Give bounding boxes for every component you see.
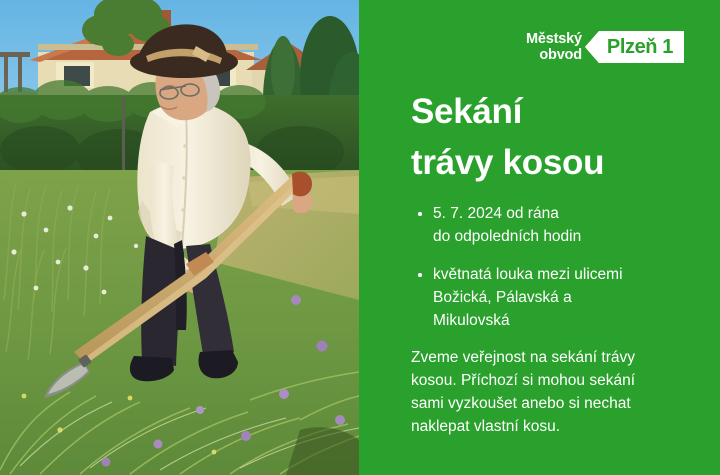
logo-word-line2: obvod	[539, 47, 582, 63]
description-paragraph: Zveme veřejnost na sekání trávy kosou. P…	[411, 346, 635, 438]
poster: Městský obvod Plzeň 1 Sekání trávy kosou…	[0, 0, 720, 475]
bullet-1-line3: Mikulovská	[433, 309, 623, 332]
paragraph-line3: sami vyzkoušet anebo si nechat	[411, 392, 635, 415]
paragraph-line1: Zveme veřejnost na sekání trávy	[411, 346, 635, 369]
photo-illustration	[0, 0, 359, 475]
logo-flag-shape: Plzeň 1	[585, 31, 684, 63]
paragraph-line2: kosou. Příchozí si mohou sekání	[411, 369, 635, 392]
page-title-line1: Sekání	[411, 86, 604, 137]
page-title: Sekání trávy kosou	[411, 86, 604, 188]
bullet-0-line2: do odpoledních hodin	[433, 225, 623, 248]
bullet-1-line1: květnatá louka mezi ulicemi	[433, 263, 623, 286]
list-item: květnatá louka mezi ulicemi Božická, Pál…	[414, 263, 623, 332]
paragraph-line4: naklepat vlastní kosu.	[411, 415, 635, 438]
bullet-1-line2: Božická, Pálavská a	[433, 286, 623, 309]
event-details-list: 5. 7. 2024 od rána do odpoledních hodin …	[414, 202, 623, 332]
logo-flag-label: Plzeň 1	[607, 37, 673, 57]
green-info-panel: Městský obvod Plzeň 1 Sekání trávy kosou…	[359, 0, 720, 475]
logo-word-line1: Městský	[526, 31, 582, 47]
list-item: 5. 7. 2024 od rána do odpoledních hodin	[414, 202, 623, 248]
scythe-mowing-photo	[0, 0, 359, 475]
page-title-line2: trávy kosou	[411, 137, 604, 188]
bullet-0-line1: 5. 7. 2024 od rána	[433, 202, 623, 225]
plzen-1-logo: Městský obvod Plzeň 1	[526, 27, 684, 67]
logo-wordmark: Městský obvod	[526, 31, 585, 63]
